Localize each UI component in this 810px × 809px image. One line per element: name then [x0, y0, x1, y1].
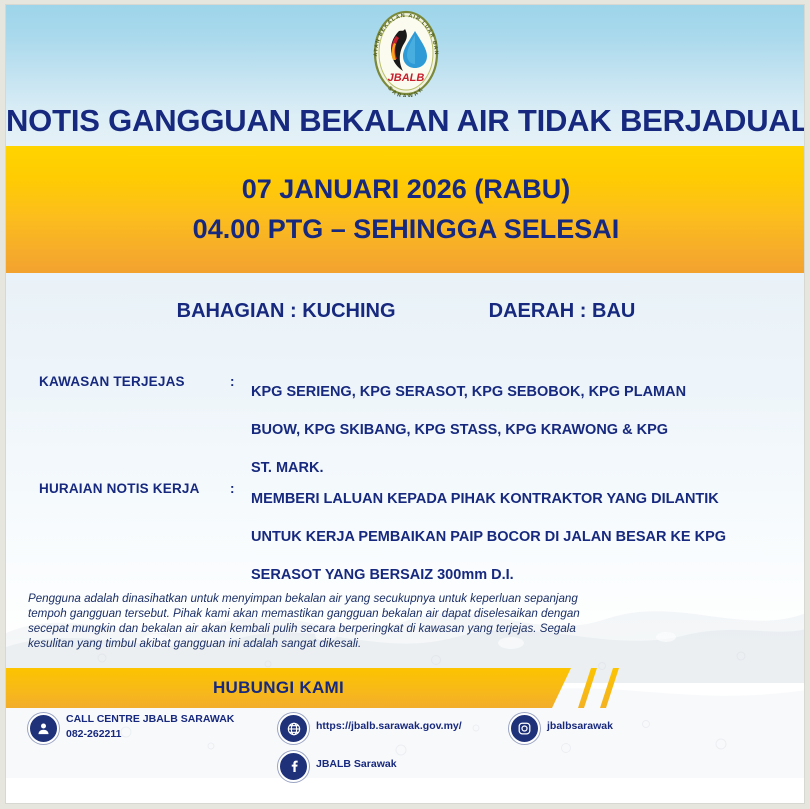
page-title: NOTIS GANGGUAN BEKALAN AIR TIDAK BERJADU… — [6, 103, 805, 139]
field-colon: : — [230, 481, 235, 496]
time-line: 04.00 PTG – SEHINGGA SELESAI — [193, 210, 620, 249]
globe-icon[interactable] — [278, 713, 309, 744]
person-icon — [28, 713, 59, 744]
instagram-icon[interactable] — [509, 713, 540, 744]
instagram-handle[interactable]: jbalbsarawak — [547, 719, 613, 734]
date-banner: 07 JANUARI 2026 (RABU) 04.00 PTG – SEHIN… — [6, 146, 805, 273]
bahagian-label: BAHAGIAN : KUCHING — [177, 300, 396, 322]
facebook-icon[interactable] — [278, 751, 309, 782]
contact-bar-stripe — [578, 668, 597, 708]
field-label: HURAIAN NOTIS KERJA — [39, 481, 200, 496]
call-centre-text: CALL CENTRE JBALB SARAWAK 082-262211 — [66, 712, 234, 742]
call-centre-number: 082-262211 — [66, 727, 234, 742]
daerah-label: DAERAH : BAU — [489, 300, 636, 322]
contact-bar-stripe — [600, 668, 619, 708]
field-line: SERASOT YANG BERSAIZ 300mm D.I. — [251, 556, 771, 594]
website-link[interactable]: https://jbalb.sarawak.gov.my/ — [316, 719, 462, 734]
notice-poster: JBALB JABATAN BEKALAN AIR LUAR BANDAR SA… — [5, 4, 805, 804]
facebook-page[interactable]: JBALB Sarawak — [316, 757, 397, 772]
field-line: BUOW, KPG SKIBANG, KPG STASS, KPG KRAWON… — [251, 411, 771, 449]
notice-body: BAHAGIAN : KUCHING DAERAH : BAU KAWASAN … — [6, 273, 805, 804]
field-line: MEMBERI LALUAN KEPADA PIHAK KONTRAKTOR Y… — [251, 480, 771, 518]
field-line: KPG SERIENG, KPG SERASOT, KPG SEBOBOK, K… — [251, 373, 771, 411]
contact-bar: HUBUNGI KAMI — [6, 668, 805, 708]
contact-bar-label: HUBUNGI KAMI — [6, 668, 551, 708]
header-banner: JBALB JABATAN BEKALAN AIR LUAR BANDAR SA… — [6, 5, 805, 146]
field-line: UNTUK KERJA PEMBAIKAN PAIP BOCOR DI JALA… — [251, 518, 771, 556]
region-row: BAHAGIAN : KUCHING DAERAH : BAU — [6, 300, 805, 323]
field-colon: : — [230, 374, 235, 389]
jbalb-logo: JBALB JABATAN BEKALAN AIR LUAR BANDAR SA… — [367, 9, 445, 97]
field-label: KAWASAN TERJEJAS — [39, 374, 185, 389]
logo-center-text: JBALB — [388, 72, 425, 84]
field-value: MEMBERI LALUAN KEPADA PIHAK KONTRAKTOR Y… — [251, 480, 771, 594]
field-value: KPG SERIENG, KPG SERASOT, KPG SEBOBOK, K… — [251, 373, 771, 487]
disclaimer-text: Pengguna adalah dinasihatkan untuk menyi… — [28, 591, 598, 651]
call-centre-name: CALL CENTRE JBALB SARAWAK — [66, 712, 234, 727]
date-line: 07 JANUARI 2026 (RABU) — [242, 170, 571, 209]
